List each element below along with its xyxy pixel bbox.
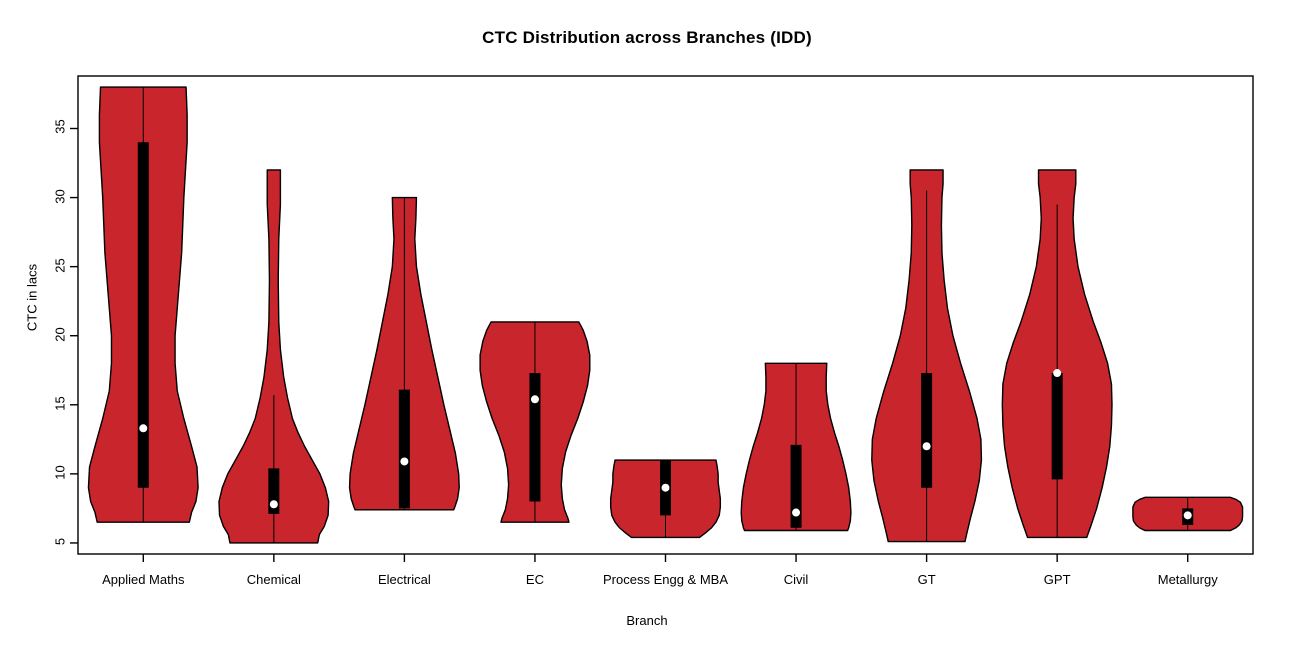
y-tick-label: 35 <box>53 107 68 147</box>
x-tick-label: Metallurgy <box>1158 572 1218 587</box>
y-tick-label: 25 <box>53 245 68 285</box>
y-tick-label: 20 <box>53 314 68 354</box>
y-tick-label: 10 <box>53 452 68 492</box>
median-point <box>792 509 800 517</box>
y-tick-label: 30 <box>53 176 68 216</box>
x-tick-label: Chemical <box>247 572 301 587</box>
x-tick-label: Process Engg & MBA <box>603 572 728 587</box>
x-tick-label: GPT <box>1044 572 1071 587</box>
median-point <box>400 457 408 465</box>
median-point <box>531 395 539 403</box>
median-point <box>662 484 670 492</box>
median-point <box>1053 369 1061 377</box>
x-tick-label: EC <box>526 572 544 587</box>
violin-chart: CTC Distribution across Branches (IDD) C… <box>0 0 1294 653</box>
median-point <box>270 500 278 508</box>
median-point <box>923 442 931 450</box>
median-point <box>139 424 147 432</box>
x-tick-label: Electrical <box>378 572 431 587</box>
x-tick-label: Civil <box>784 572 809 587</box>
y-tick-label: 5 <box>53 521 68 561</box>
y-tick-label: 15 <box>53 383 68 423</box>
plot-area <box>0 0 1294 653</box>
x-tick-label: GT <box>918 572 936 587</box>
x-tick-label: Applied Maths <box>102 572 184 587</box>
median-point <box>1184 511 1192 519</box>
